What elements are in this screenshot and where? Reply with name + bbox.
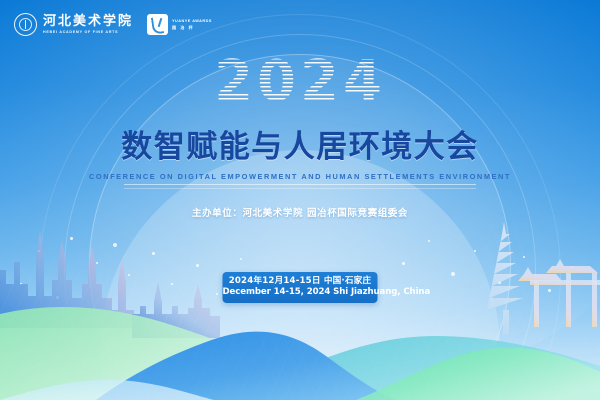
- sparkle-dot: [171, 283, 173, 285]
- hill-light-front: [0, 380, 214, 400]
- decorative-arc-inner: [89, 54, 511, 400]
- organizer-line: 主办单位：河北美术学院 园冶杯国际竞赛组委会: [0, 207, 600, 220]
- date-location-badge: 2024年12月14-15日 中国·石家庄 December 14-15, 20…: [223, 272, 378, 303]
- sparkle-dot: [56, 296, 59, 299]
- logo-yuanye-awards[interactable]: YUANYE AWARDS 园 冶 杯: [147, 14, 212, 35]
- sparkle-dot: [196, 264, 199, 267]
- hill-blue-center: [96, 332, 396, 400]
- date-cn: 2024年12月14-15日 中国·石家庄: [223, 276, 378, 287]
- hill-green-right: [356, 348, 600, 400]
- year-text: 2024: [214, 54, 386, 110]
- divider-upper: [124, 184, 476, 185]
- top-glow: [0, 0, 600, 400]
- academy-name-en: HEBEI ACADEMY OF FINE ARTS: [43, 30, 133, 35]
- sparkle-dot: [216, 293, 218, 295]
- sparkle-dot: [96, 262, 98, 264]
- page-title: 数智赋能与人居环境大会: [0, 128, 600, 166]
- logo-hebei-academy[interactable]: 河北美术学院 HEBEI ACADEMY OF FINE ARTS: [14, 13, 133, 36]
- yuanye-award-mark-icon: [147, 14, 168, 35]
- sparkle-dot: [571, 266, 573, 268]
- hill-teal-right: [300, 336, 600, 400]
- sparkle-dot: [70, 237, 73, 240]
- subtitle-en: CONFERENCE ON DIGITAL EMPOWERMENT AND HU…: [89, 172, 511, 181]
- year-heading: 2024: [0, 54, 600, 110]
- sparkle-dot: [128, 274, 130, 276]
- sparkle-dot: [402, 262, 405, 265]
- sparkle-dot: [38, 250, 40, 252]
- landscape-scene: [0, 210, 600, 400]
- hill-back-left: [0, 307, 300, 400]
- academy-name-cn: 河北美术学院: [43, 15, 133, 29]
- yuanye-name-en: YUANYE AWARDS: [172, 19, 212, 24]
- sparkle-dot: [152, 252, 155, 255]
- sparkle-dot: [20, 283, 22, 285]
- sparkle-dot: [113, 243, 117, 247]
- conference-poster: 河北美术学院 HEBEI ACADEMY OF FINE ARTS YUANYE…: [0, 0, 600, 400]
- castle-campus-silhouette: [0, 230, 220, 338]
- logo-bar: 河北美术学院 HEBEI ACADEMY OF FINE ARTS YUANYE…: [14, 13, 212, 36]
- pagoda-silhouette: [486, 222, 526, 336]
- sparkle-dot: [240, 258, 242, 260]
- sparkle-dot: [451, 272, 455, 276]
- divider-lower: [124, 188, 476, 189]
- subtitle-block: CONFERENCE ON DIGITAL EMPOWERMENT AND HU…: [0, 172, 600, 189]
- sparkle-dot: [523, 256, 525, 258]
- yuanye-name-cn: 园 冶 杯: [172, 25, 212, 30]
- sparkle-dot: [498, 281, 501, 284]
- sparkle-dot: [428, 240, 430, 242]
- sparkle-dot: [548, 289, 551, 292]
- traditional-gate-silhouette: [518, 259, 600, 327]
- academy-seal-icon: [14, 13, 37, 36]
- date-en: December 14-15, 2024 Shi Jiazhuang, Chin…: [223, 287, 378, 298]
- sparkle-dot: [474, 250, 476, 252]
